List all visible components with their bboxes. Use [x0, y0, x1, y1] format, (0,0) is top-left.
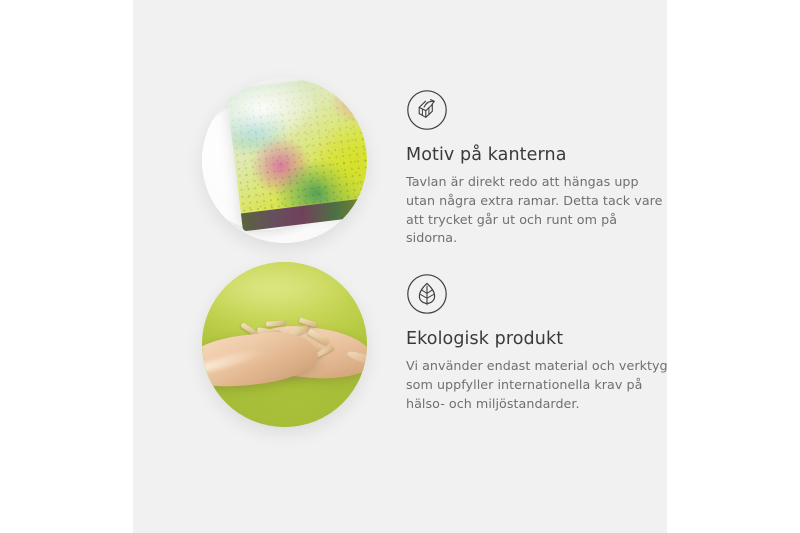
paint-speckle-texture	[226, 78, 367, 217]
feature-block-ekologisk-produkt: Ekologisk produkt Vi använder endast mat…	[133, 262, 671, 427]
feature-description: Tavlan är direkt redo att hängas upp uta…	[406, 173, 671, 248]
circular-image-mask	[202, 262, 367, 427]
feature-image-canvas-edges	[202, 78, 367, 243]
wood-chip	[266, 320, 286, 327]
leaf-icon	[406, 273, 448, 315]
feature-description: Vi använder endast material och verktyg …	[406, 357, 671, 413]
abstract-canvas-print-photo	[202, 78, 367, 243]
feature-block-motiv-pa-kanterna: Motiv på kanterna Tavlan är direkt redo …	[133, 78, 671, 248]
thumb-shape	[346, 349, 367, 367]
feature-title: Motiv på kanterna	[406, 145, 671, 166]
hands-holding-wood-chips-photo	[202, 262, 367, 427]
canvas-wrapped-edge-icon	[406, 89, 448, 131]
circular-image-mask	[202, 78, 367, 243]
content-panel: Motiv på kanterna Tavlan är direkt redo …	[133, 0, 667, 533]
feature-copy: Ekologisk produkt Vi använder endast mat…	[406, 262, 671, 413]
feature-title: Ekologisk produkt	[406, 329, 671, 350]
canvas-print-face	[226, 78, 367, 217]
feature-copy: Motiv på kanterna Tavlan är direkt redo …	[406, 78, 671, 248]
hand-highlight	[202, 346, 267, 377]
promo-page: Motiv på kanterna Tavlan är direkt redo …	[0, 0, 800, 533]
feature-image-eco	[202, 262, 367, 427]
